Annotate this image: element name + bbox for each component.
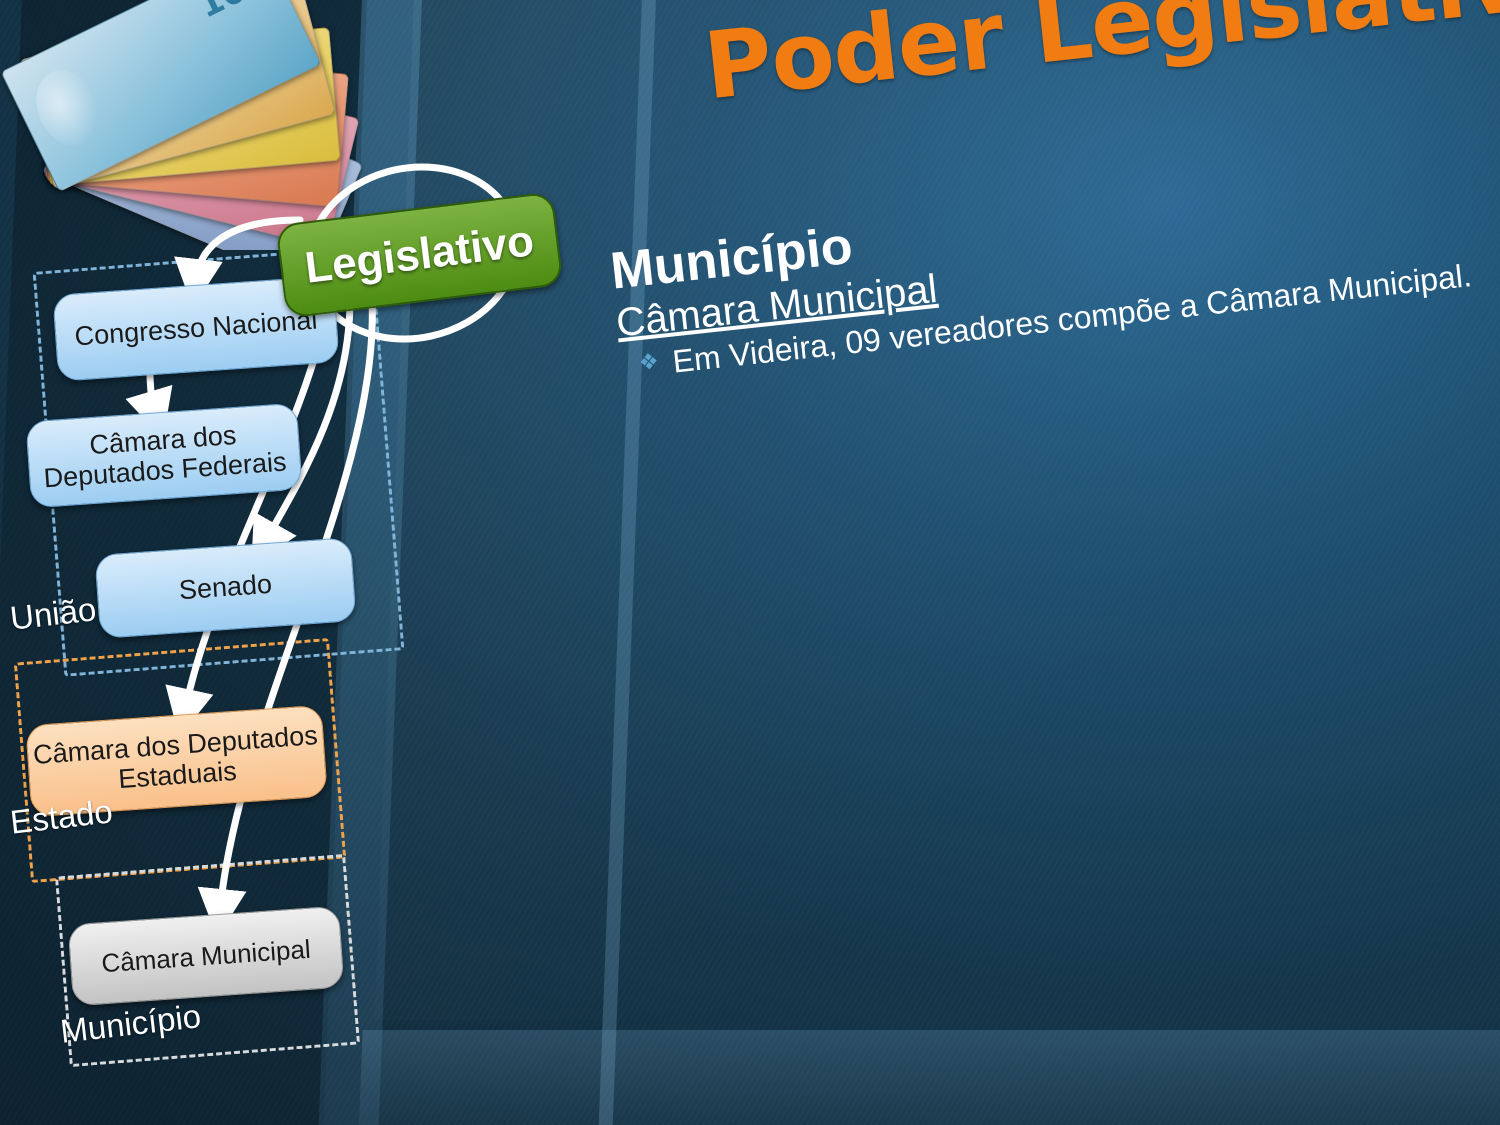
bullet-diamond-icon: ❖ (637, 343, 660, 380)
slide: 2 5 10 20 50 100 Poder Legislativo Munic… (0, 0, 1500, 1125)
background-panel-main (375, 0, 1500, 1020)
content-block: Município Câmara Municipal ❖ Em Videira,… (608, 152, 1478, 387)
legislative-structure-diagram: Congresso Nacional Câmara dos Deputados … (0, 150, 430, 1110)
node-senado[interactable]: Senado (94, 537, 356, 639)
banknote-value-100: 100 (192, 0, 273, 26)
background-stripe-thin (596, 0, 658, 1125)
slide-title: Poder Legislativo (700, 0, 1486, 116)
background-panel-bottom (357, 1030, 1500, 1125)
